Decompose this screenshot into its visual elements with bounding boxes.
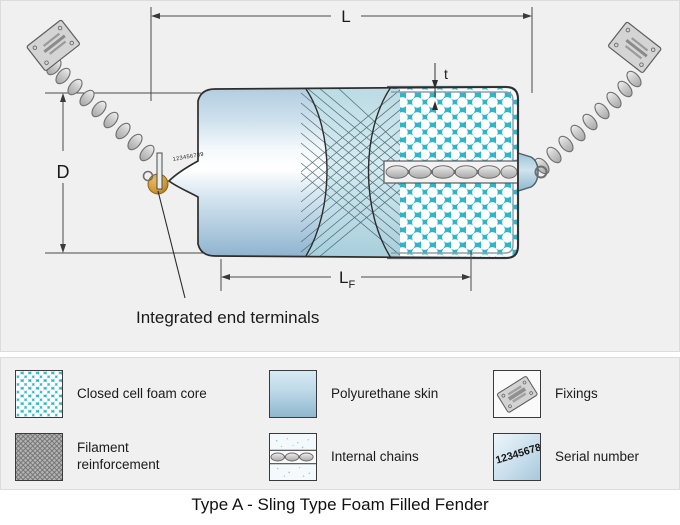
figure-caption: Type A - Sling Type Foam Filled Fender (0, 495, 680, 515)
legend-item-filament-reinforcement: Filament reinforcement (15, 433, 160, 481)
foam-pattern-swatch (15, 370, 63, 418)
legend-item-internal-chains: Internal chains (269, 433, 419, 481)
legend-panel: Closed cell foam core Filament reinforce… (0, 357, 680, 490)
left-sling-assembly (26, 20, 156, 164)
fender-body: 123456789 (144, 63, 547, 272)
dimension-label-L: L (341, 7, 350, 26)
legend-label-closed-cell-foam-core: Closed cell foam core (77, 386, 207, 403)
legend-item-fixings: Fixings (493, 370, 598, 418)
legend-label-fixings: Fixings (555, 386, 598, 403)
legend-item-polyurethane-skin: Polyurethane skin (269, 370, 438, 418)
dimension-label-t: t (444, 66, 448, 82)
skin-region (169, 89, 327, 256)
right-sling-assembly (532, 22, 661, 177)
skin-gradient-swatch (269, 370, 317, 418)
serial-number-swatch: 123456789 (493, 433, 541, 481)
figure-root: L D (0, 0, 680, 525)
legend-label-filament-reinforcement: Filament reinforcement (77, 440, 160, 474)
legend-item-serial-number: 123456789 Serial number (493, 433, 639, 481)
legend-item-closed-cell-foam-core: Closed cell foam core (15, 370, 207, 418)
left-terminal-eye (144, 172, 153, 181)
diagram-panel: L D (0, 0, 680, 352)
dimension-label-D: D (57, 162, 70, 182)
left-terminal-post (157, 153, 162, 189)
end-terminals-leader-line (158, 191, 185, 298)
filament-pattern-swatch (15, 433, 63, 481)
dimension-label-LF: LF (339, 268, 355, 291)
left-fixing-plate (26, 20, 80, 72)
chain-icon-swatch (269, 433, 317, 481)
internal-chain-channel (384, 161, 518, 183)
legend-label-internal-chains: Internal chains (331, 449, 419, 466)
end-terminals-label: Integrated end terminals (136, 308, 319, 327)
legend-label-polyurethane-skin: Polyurethane skin (331, 386, 438, 403)
fixings-icon-swatch (493, 370, 541, 418)
legend-label-serial-number: Serial number (555, 449, 639, 466)
right-fixing-plate (608, 22, 662, 74)
fender-diagram: L D (1, 1, 680, 353)
